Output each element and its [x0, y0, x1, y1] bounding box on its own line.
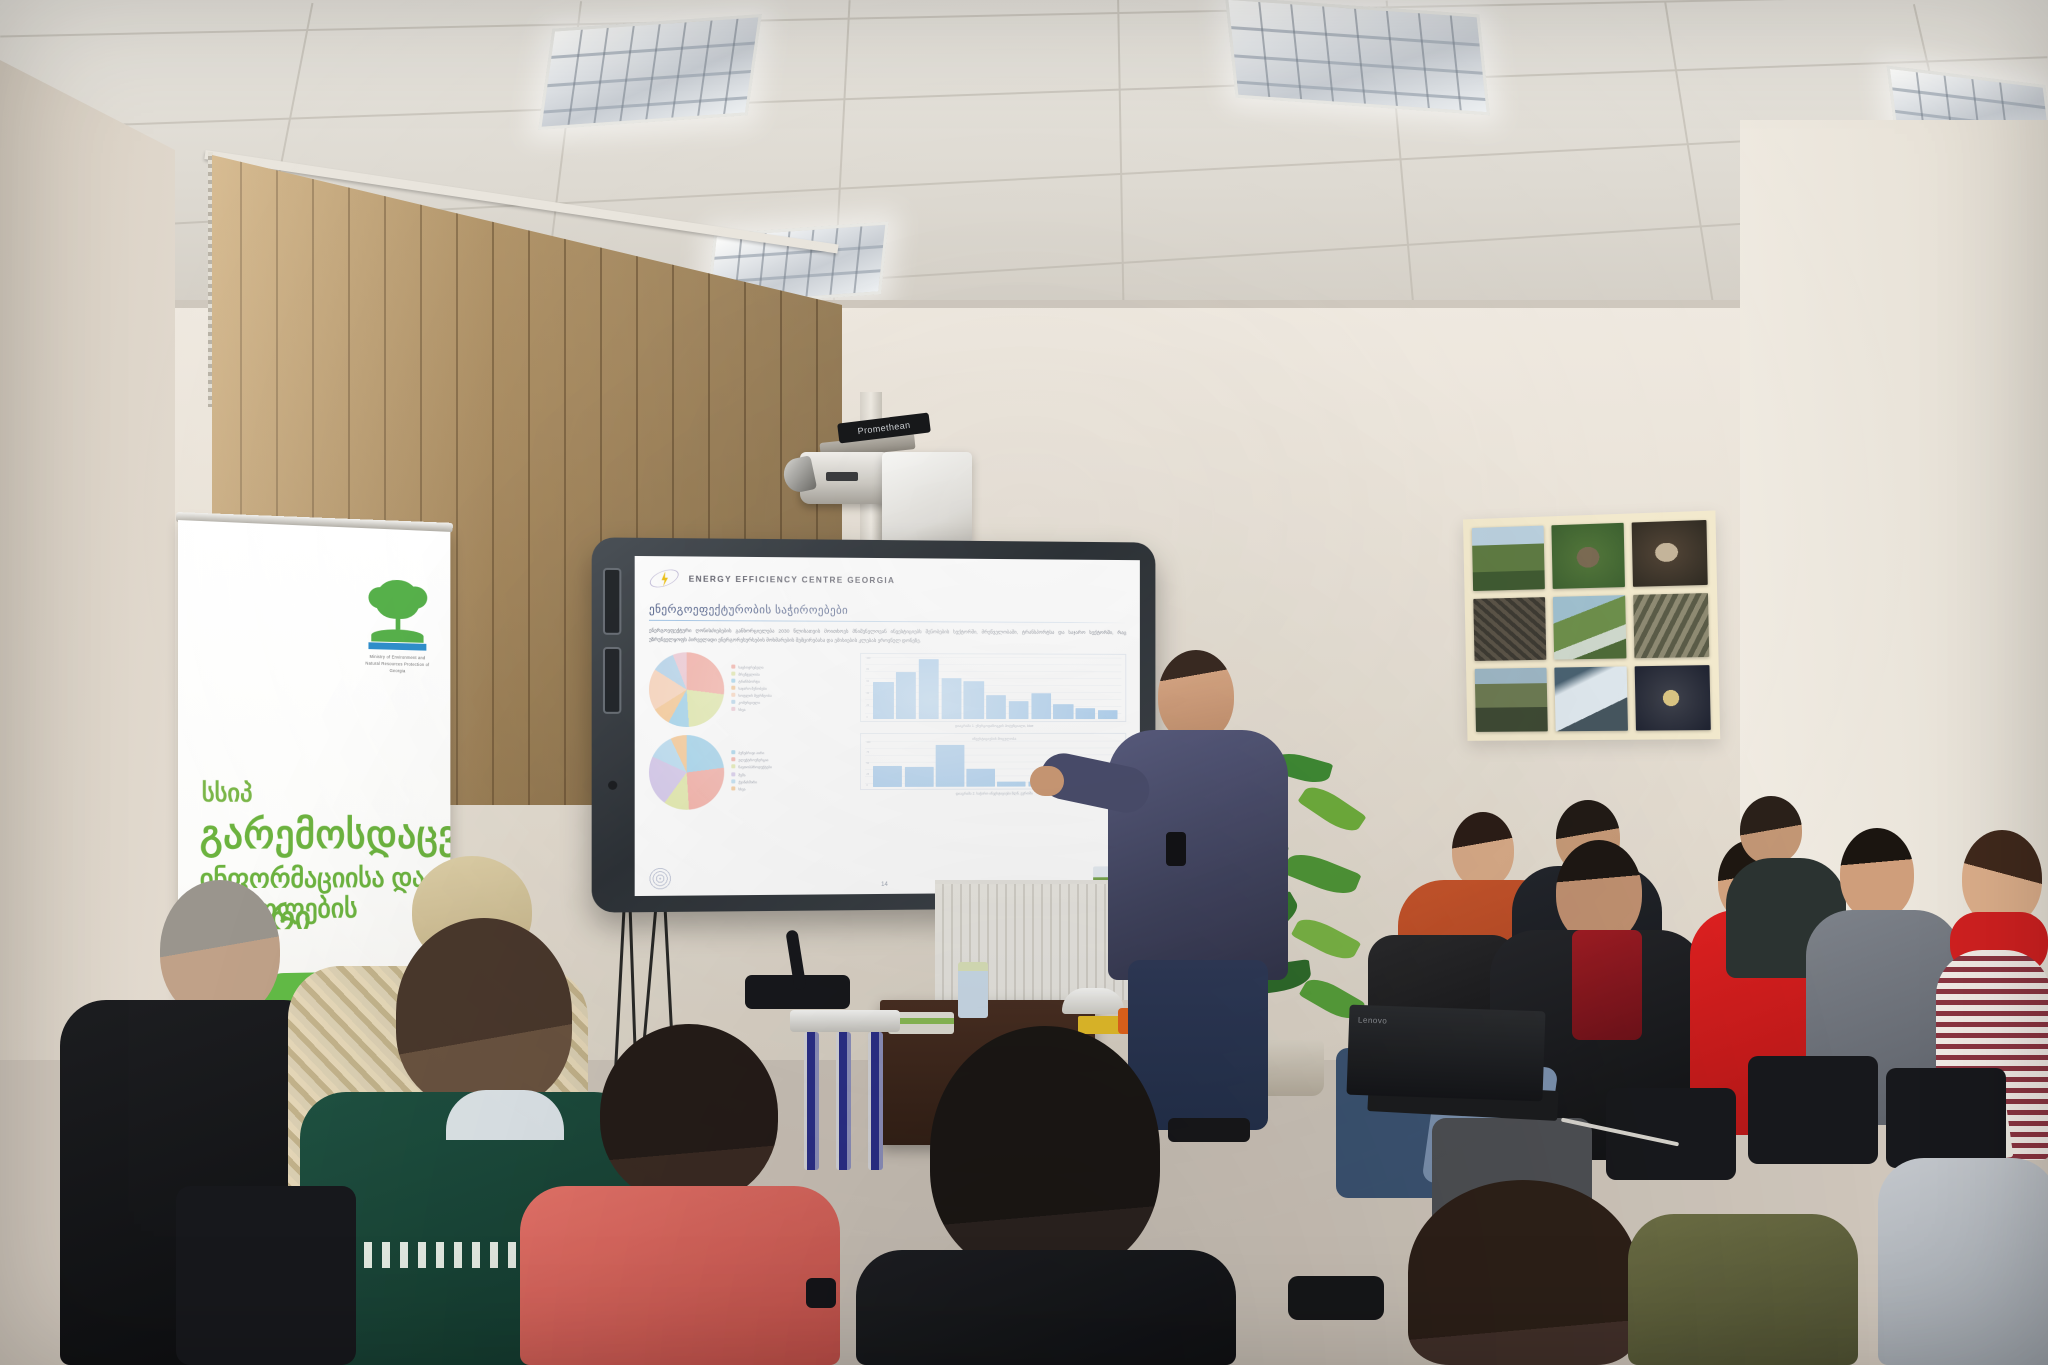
bar-bottom-yaxis: 100 75 50 25 0	[866, 741, 872, 787]
slide-title: ენერგოეფექტურობის საჭიროებები	[649, 603, 1126, 619]
bar-chart-top-wrap: 100 80 60 40 20 0 დიაგრამა 1. ენერგ	[860, 652, 1126, 727]
presenter-head	[1158, 650, 1234, 742]
woman-orange-head	[1452, 812, 1514, 888]
solar-tube-icon	[868, 1032, 883, 1170]
presentation-slide: ENERGY EFFICIENCY CENTRE GEORGIA ენერგოე…	[635, 556, 1140, 896]
ministry-caption: Ministry of Environment and Natural Reso…	[365, 654, 430, 675]
bar-series-top: 100 80 60 40 20 0	[865, 656, 1121, 718]
pie-chart-block: საცხოვრებელი მრეწველობა ტრანსპორტი საჯარ…	[649, 652, 854, 727]
projector-mirror	[882, 452, 972, 544]
man-front-head	[1556, 840, 1642, 944]
bar	[1031, 693, 1051, 719]
photo-tile	[1553, 595, 1627, 660]
slide-page-number: 14	[881, 882, 888, 888]
man-dark-hair-center-torso	[856, 1250, 1236, 1365]
slide-org-name: ENERGY EFFICIENCY CENTRE GEORGIA	[689, 574, 896, 585]
leaf-icon	[1291, 912, 1361, 966]
power-indicator-icon	[608, 781, 617, 790]
pie-top-legend: საცხოვრებელი მრეწველობა ტრანსპორტი საჯარ…	[731, 664, 771, 714]
man-dark-hair-center-head	[930, 1026, 1160, 1276]
red-shirt-collar	[1572, 930, 1642, 1040]
bar-chart-top: 100 80 60 40 20 0	[860, 652, 1126, 721]
photo-grid	[1472, 520, 1711, 732]
bar	[1053, 705, 1073, 719]
man-green-sweater-head	[396, 918, 572, 1108]
photo-tile	[1633, 593, 1709, 659]
bar	[905, 767, 934, 786]
man-back-tall-head	[1740, 796, 1802, 864]
person-olive-trousers	[1628, 1214, 1858, 1365]
slide-body-text: ენერგოეფექტური ღონისძიებების განხორციელე…	[649, 627, 1126, 647]
photo-tile	[1475, 668, 1548, 732]
pen-slot-icon[interactable]	[603, 647, 621, 714]
bar	[873, 766, 902, 786]
ministry-logo: Ministry of Environment and Natural Reso…	[365, 579, 430, 676]
solar-collector-demo	[790, 1010, 900, 1170]
whiteboard-screen[interactable]: ENERGY EFFICIENCY CENTRE GEORGIA ენერგოე…	[635, 556, 1140, 896]
bar	[919, 660, 939, 719]
tree-icon	[375, 579, 420, 619]
presenter-shoe	[1168, 1118, 1250, 1142]
bar	[941, 679, 961, 719]
bar	[986, 695, 1006, 718]
bar	[997, 781, 1025, 786]
pen-slot-icon[interactable]	[603, 568, 621, 635]
whiteboard-pen-rail[interactable]	[600, 568, 625, 740]
man-grey-hair-head	[160, 880, 280, 1020]
woman-dark-bob-head	[600, 1024, 778, 1204]
woman-salmon-top	[520, 1186, 840, 1365]
shoe-icon	[1288, 1276, 1384, 1320]
presenter-hand	[1030, 766, 1064, 796]
bar	[1076, 708, 1096, 719]
bar	[873, 682, 893, 719]
man-grey-head	[1840, 828, 1914, 920]
banner-sub: სსიპ	[202, 778, 253, 808]
pie-chart-bottom	[649, 735, 724, 810]
banner-title-line-1: გარემოსდაცვითი	[200, 812, 451, 858]
photo-tile	[1551, 523, 1625, 589]
bar-top-yaxis: 100 80 60 40 20 0	[866, 656, 872, 718]
bar	[1009, 701, 1029, 719]
bar	[896, 673, 916, 719]
interactive-whiteboard[interactable]: ENERGY EFFICIENCY CENTRE GEORGIA ენერგოე…	[592, 537, 1156, 912]
slide-header: ENERGY EFFICIENCY CENTRE GEORGIA	[649, 566, 1126, 593]
hill-icon	[371, 629, 423, 643]
bar	[967, 769, 995, 787]
jar-icon	[958, 962, 988, 1018]
white-dome-icon	[1062, 988, 1124, 1014]
audience-chair-foreground[interactable]	[176, 1186, 356, 1365]
presenter-remote-icon	[1166, 832, 1186, 866]
toy-truck-yellow-icon	[1078, 1016, 1122, 1034]
spiral-icon	[649, 867, 671, 889]
bar	[936, 745, 965, 786]
left-wall	[0, 60, 175, 1060]
bar	[1098, 710, 1118, 718]
laptop-brand-label: Lenovo	[1358, 1015, 1388, 1025]
projector-vent	[826, 472, 858, 481]
nature-photo-poster	[1463, 511, 1720, 741]
pie-chart-top	[649, 652, 724, 727]
solar-manifold	[790, 1010, 900, 1032]
ceiling-light-fixture	[538, 14, 762, 130]
woman-back-right-head	[1408, 1180, 1638, 1365]
photo-tile	[1635, 665, 1711, 730]
leaf-icon	[1297, 780, 1366, 838]
photo-tile	[1473, 597, 1546, 662]
audience-chair[interactable]	[1886, 1068, 2006, 1168]
audience-chair[interactable]	[1748, 1056, 1878, 1164]
bar	[964, 681, 984, 719]
pie-chart-block: ბუნებრივი აირი ელექტროენერგია ნავთობპროდ…	[649, 735, 854, 810]
projector-body	[800, 452, 886, 504]
solar-tube-icon	[804, 1032, 819, 1170]
photo-tile	[1632, 520, 1708, 587]
photo-tile	[1554, 667, 1628, 732]
photo-tile	[1472, 526, 1545, 591]
pie-chart-column: საცხოვრებელი მრეწველობა ტრანსპორტი საჯარ…	[649, 652, 854, 810]
slide-title-rule	[649, 620, 1126, 624]
pie-bottom-legend: ბუნებრივი აირი ელექტროენერგია ნავთობპროდ…	[731, 750, 772, 793]
river-icon	[368, 642, 426, 650]
leaf-icon	[1282, 847, 1361, 901]
bar-top-caption: დიაგრამა 1. ენერგოდაზოგვის პოტენციალი, k…	[860, 724, 1126, 728]
solar-tube-icon	[836, 1032, 851, 1170]
sweater-collar	[446, 1090, 564, 1140]
pen-in-hand-icon	[806, 1278, 836, 1308]
ceiling-light-fixture	[1225, 0, 1490, 115]
seminar-room-photo: Ministry of Environment and Natural Reso…	[0, 0, 2048, 1365]
energy-swirl-icon	[649, 566, 680, 590]
person-right-edge	[1878, 1158, 2048, 1365]
